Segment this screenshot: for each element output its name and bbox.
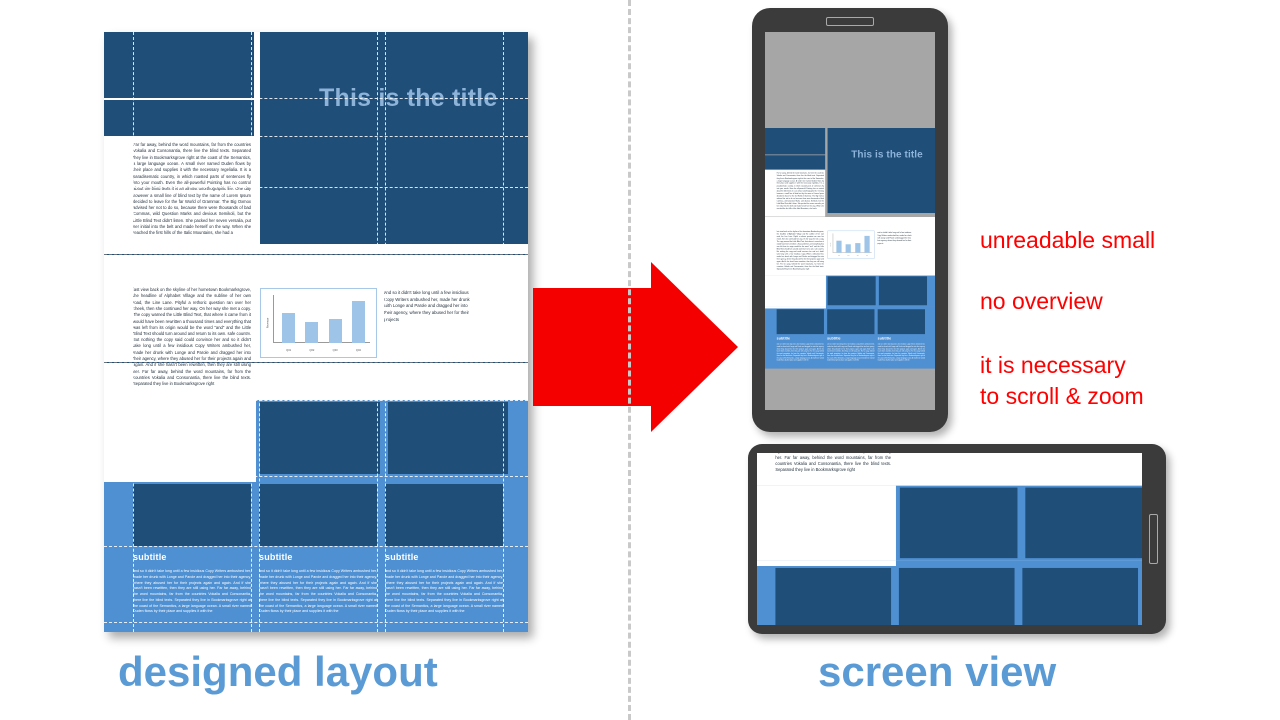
image-block-1 [900,488,1018,559]
right-arrow-icon [533,262,738,432]
annotation-unreadable-small: unreadable small [980,227,1155,254]
annotation-necessary-scroll-2: to scroll & zoom [980,383,1144,410]
chart-x-tick-label: Q03 [853,255,862,256]
bar-chart-plot-area: Revenue Q01Q02Q03Q04 [261,289,376,357]
phone-speaker-icon [826,17,874,26]
body-paragraph-2: last view back on the skyline of her hom… [133,287,251,335]
chart-x-tick-label: Q04 [347,349,370,352]
chart-bar [329,319,342,343]
card-body-3: and so it didn't take long until a few i… [878,343,925,361]
card-image-2 [827,309,874,334]
image-block-2 [879,276,927,305]
header-title-block [260,32,528,244]
card-subtitle-3: subtitle [878,337,891,341]
designed-layout-page: This is the title Far far away, behind t… [104,32,528,632]
image-block-2 [388,402,508,474]
bar-chart: Revenue Q01Q02Q03Q04 [828,231,875,259]
card-image-1 [777,309,824,334]
card-image-1 [775,568,891,625]
header-left-block [104,32,254,98]
lower-white-sliver [757,560,896,566]
card-subtitle-2: subtitle [259,552,293,562]
card-subtitle-3: subtitle [385,552,419,562]
tablet-screen[interactable]: This is the title Far far away, behind t… [757,453,1142,625]
card-subtitle-2: subtitle [827,337,840,341]
card-body-1: and so it didn't take long until a few i… [133,569,251,613]
card-body-3: and so it didn't take long until a few i… [385,569,503,613]
card-image-3 [878,309,925,334]
header-left-block-2 [765,155,825,169]
annotation-no-overview: no overview [980,288,1103,315]
chart-y-axis-label: Revenue [830,243,831,247]
card-body-2: and so it didn't take long until a few i… [827,343,874,361]
body-paragraph-3: But nothing the copy said could convince… [775,453,891,483]
chart-bar [282,313,295,343]
card-subtitle-1: subtitle [777,337,790,341]
caption-designed-layout: designed layout [118,648,438,696]
chart-bar [864,236,869,253]
annotation-necessary-scroll-1: it is necessary [980,352,1126,379]
page-title: This is the title [851,149,923,161]
image-block-1 [828,276,876,305]
body-paragraph-1: Far far away, behind the word mountains,… [133,142,251,250]
phone-portrait-mockup: This is the title Far far away, behind t… [752,8,948,432]
card-image-3 [385,484,503,546]
chart-x-tick-label: Q02 [300,349,323,352]
tablet-landscape-mockup: This is the title Far far away, behind t… [748,444,1166,634]
bar-chart-plot-area: Revenue Q01Q02Q03Q04 [828,231,874,258]
image-row-1-left-white [104,400,256,476]
side-note: and so it didn't take long until a few i… [384,290,470,356]
header-left-block [765,128,825,154]
caption-screen-view: screen view [818,648,1056,696]
image-block-2 [1025,488,1142,559]
chart-bar [846,244,851,252]
body-paragraph-3: But nothing the copy said could convince… [777,250,824,274]
chart-x-tick-label: Q01 [834,255,843,256]
body-paragraph-2: last view back on the skyline of her hom… [777,230,824,249]
bar-chart: Revenue Q01Q02Q03Q04 [260,288,377,358]
card-image-1 [133,484,251,546]
body-paragraph-1: Far far away, behind the word mountains,… [777,172,824,215]
chart-bar [305,322,318,343]
lower-white-sliver [104,476,256,482]
header-title-block [828,128,935,213]
lower-white-sliver [765,306,826,308]
image-block-1 [260,402,380,474]
section-divider [628,0,631,720]
chart-x-tick-label: Q04 [862,255,871,256]
chart-bar [352,301,365,343]
page-title: This is the title [319,84,497,113]
chart-bar [855,243,860,253]
image-row-1-left-white [765,276,826,306]
phone-screen[interactable]: This is the title Far far away, behind t… [765,32,935,410]
side-note: and so it didn't take long until a few i… [877,231,911,257]
chart-x-tick-label: Q02 [844,255,853,256]
image-row-1-left-white [757,486,896,560]
tablet-speaker-icon [1149,514,1158,564]
header-left-block-2 [104,100,254,136]
chart-x-tick-label: Q01 [277,349,300,352]
card-image-2 [259,484,377,546]
slide-canvas: This is the title Far far away, behind t… [0,0,1280,720]
chart-x-tick-label: Q03 [324,349,347,352]
card-image-3 [1022,568,1138,625]
card-body-2: and so it didn't take long until a few i… [259,569,377,613]
chart-y-axis [273,295,274,343]
card-image-2 [899,568,1015,625]
chart-bar [836,241,841,253]
chart-y-axis-label: Revenue [267,318,270,328]
card-subtitle-1: subtitle [133,552,167,562]
card-body-1: and so it didn't take long until a few i… [777,343,824,361]
body-paragraph-3: But nothing the copy said could convince… [133,337,251,397]
